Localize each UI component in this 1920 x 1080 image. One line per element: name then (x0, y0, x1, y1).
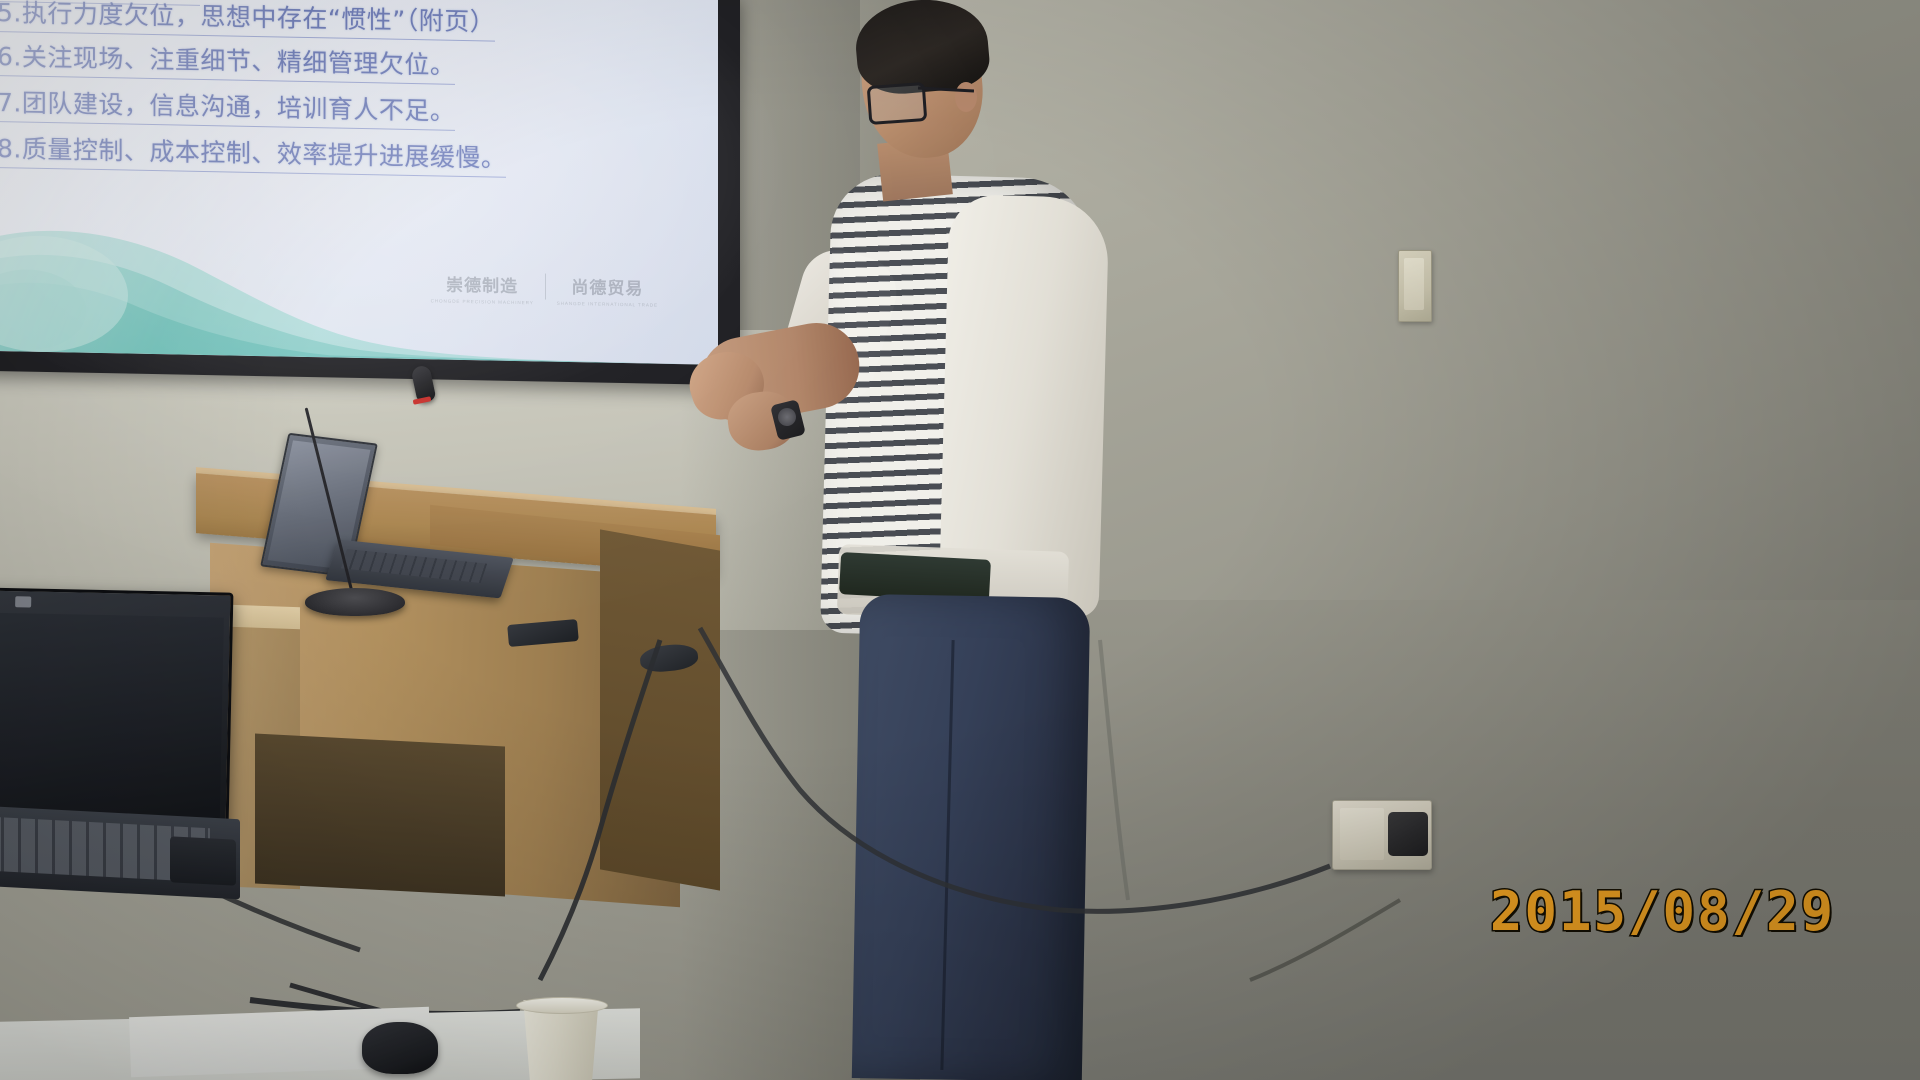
slide-bullet-6: 6.关注现场、注重细节、精细管理欠位。 (0, 37, 455, 85)
desk-shadow-panel (255, 733, 505, 896)
logo-right-cn: 尚德贸易 (571, 273, 643, 299)
logo-right: 尚德贸易 SHANGDE INTERNATIONAL TRADE (557, 273, 658, 308)
foreground-mouse (362, 1022, 438, 1074)
slide-bullet-7: 7.团队建设，信息沟通，培训育人不足。 (0, 83, 455, 131)
foreground-laptop-lid (0, 587, 233, 828)
logo-left: 崇德制造 CHONGDE PRECISION MACHINERY (431, 270, 534, 305)
speaker-ear (955, 82, 977, 112)
speaker-jeans (852, 594, 1090, 1080)
outlet-plug[interactable] (1388, 812, 1428, 856)
slide-bullet-8: 8.质量控制、成本控制、效率提升进展缓慢。 (0, 129, 506, 178)
foreground-laptop-touchpad (170, 836, 236, 885)
slide-bullet-5: 5.执行力度欠位，思想中存在“惯性”（附页） (0, 0, 495, 42)
logo-divider (545, 274, 546, 300)
projection-screen-surface: 4.现场管理欠位。 5.执行力度欠位，思想中存在“惯性”（附页） 6.关注现场、… (0, 0, 718, 365)
laptop-brand-logo-icon (15, 596, 31, 607)
light-switch-rocker[interactable] (1404, 258, 1424, 310)
camera-datestamp: 2015/08/29 (1490, 880, 1835, 943)
paper-cup-rim (516, 997, 608, 1014)
foreground-laptop-screen (0, 612, 224, 819)
outlet-socket[interactable] (1340, 808, 1384, 860)
presentation-photo: 4.现场管理欠位。 5.执行力度欠位，思想中存在“惯性”（附页） 6.关注现场、… (0, 0, 1920, 1080)
microphone-base (305, 588, 405, 616)
logo-left-cn: 崇德制造 (446, 271, 518, 297)
podium-side-panel (600, 529, 720, 890)
projection-screen-frame: 4.现场管理欠位。 5.执行力度欠位，思想中存在“惯性”（附页） 6.关注现场、… (0, 0, 740, 385)
company-logo: 崇德制造 CHONGDE PRECISION MACHINERY 尚德贸易 SH… (431, 270, 658, 307)
